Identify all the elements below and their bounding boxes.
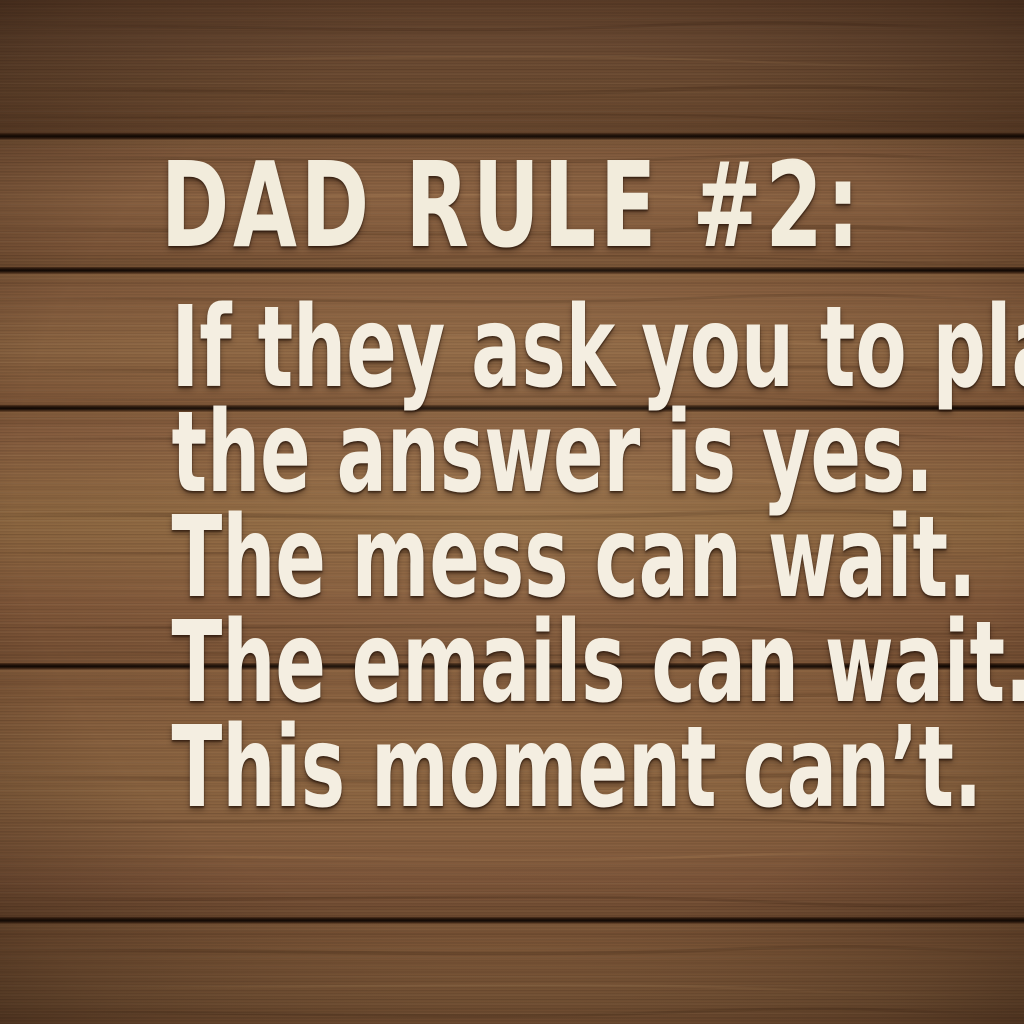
quote-line-5: This moment can’t. xyxy=(172,716,853,821)
wood-sign-quote-image: DAD RULE #2: If they ask you to play, th… xyxy=(0,0,1024,1024)
quote-line-2: the answer is yes. xyxy=(172,401,853,506)
quote-line-1: If they ask you to play, xyxy=(172,296,853,401)
quote-line-3: The mess can wait. xyxy=(172,506,853,611)
quote-line-4: The emails can wait. xyxy=(172,611,853,716)
quote-headline: DAD RULE #2: xyxy=(154,146,871,264)
